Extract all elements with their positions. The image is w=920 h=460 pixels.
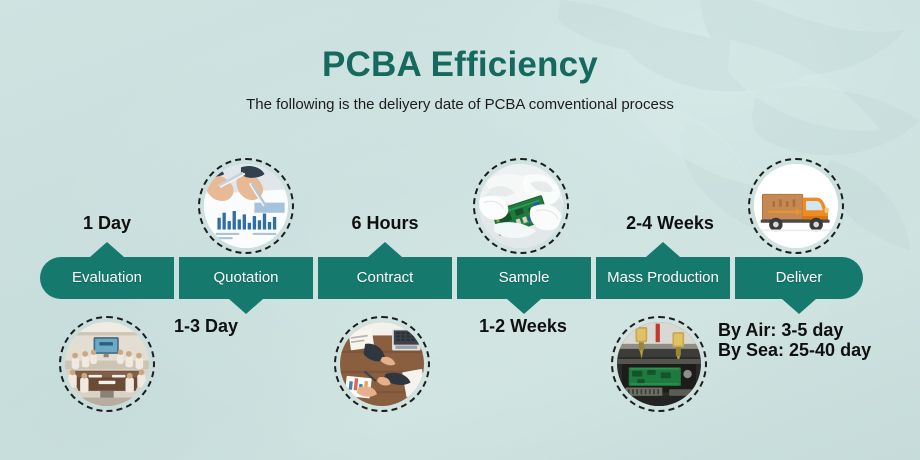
quotation-documents-photo bbox=[198, 158, 294, 254]
page-subtitle: The following is the deliyery date of PC… bbox=[0, 95, 920, 115]
duration-sample: 1-2 Weeks bbox=[453, 316, 593, 337]
pointer-up-icon bbox=[368, 242, 402, 257]
process-step-label: Deliver bbox=[735, 269, 863, 287]
header: PCBA Efficiency The following is the del… bbox=[0, 44, 920, 115]
process-step-label: Evaluation bbox=[40, 269, 174, 287]
process-step-label: Mass Production bbox=[596, 269, 730, 287]
photo-disc bbox=[479, 164, 563, 248]
process-bar-strip: Evaluation Quotation Contract Sample Mas… bbox=[40, 257, 863, 299]
duration-deliver-sea: By Sea: 25-40 day bbox=[718, 340, 908, 360]
duration-deliver: By Air: 3-5 day By Sea: 25-40 day bbox=[718, 320, 908, 360]
pcba-efficiency-infographic: PCBA Efficiency The following is the del… bbox=[0, 0, 920, 460]
photo-disc bbox=[754, 164, 838, 248]
process-step-sample[interactable]: Sample bbox=[457, 257, 591, 299]
duration-deliver-air: By Air: 3-5 day bbox=[718, 320, 908, 340]
photo-disc bbox=[340, 322, 424, 406]
photo-disc bbox=[204, 164, 288, 248]
pointer-up-icon bbox=[646, 242, 680, 257]
duration-evaluation: 1 Day bbox=[37, 213, 177, 234]
contract-desk-photo bbox=[334, 316, 430, 412]
process-step-label: Contract bbox=[318, 269, 452, 287]
photo-disc bbox=[617, 322, 701, 406]
process-step-quotation[interactable]: Quotation bbox=[179, 257, 313, 299]
pointer-down-icon bbox=[782, 299, 816, 314]
photo-disc bbox=[65, 322, 149, 406]
process-step-deliver[interactable]: Deliver bbox=[735, 257, 863, 299]
pointer-up-icon bbox=[90, 242, 124, 257]
process-step-contract[interactable]: Contract bbox=[318, 257, 452, 299]
pointer-down-icon bbox=[507, 299, 541, 314]
pointer-down-icon bbox=[229, 299, 263, 314]
duration-mass-production: 2-4 Weeks bbox=[590, 213, 750, 234]
process-step-mass-production[interactable]: Mass Production bbox=[596, 257, 730, 299]
pcb-sample-photo bbox=[473, 158, 569, 254]
duration-contract: 6 Hours bbox=[315, 213, 455, 234]
meeting-room-photo bbox=[59, 316, 155, 412]
delivery-truck-icon bbox=[748, 158, 844, 254]
process-step-label: Sample bbox=[457, 269, 591, 287]
production-machine-photo bbox=[611, 316, 707, 412]
process-step-label: Quotation bbox=[179, 269, 313, 287]
duration-quotation: 1-3 Day bbox=[136, 316, 276, 337]
page-title: PCBA Efficiency bbox=[0, 44, 920, 86]
process-step-evaluation[interactable]: Evaluation bbox=[40, 257, 174, 299]
